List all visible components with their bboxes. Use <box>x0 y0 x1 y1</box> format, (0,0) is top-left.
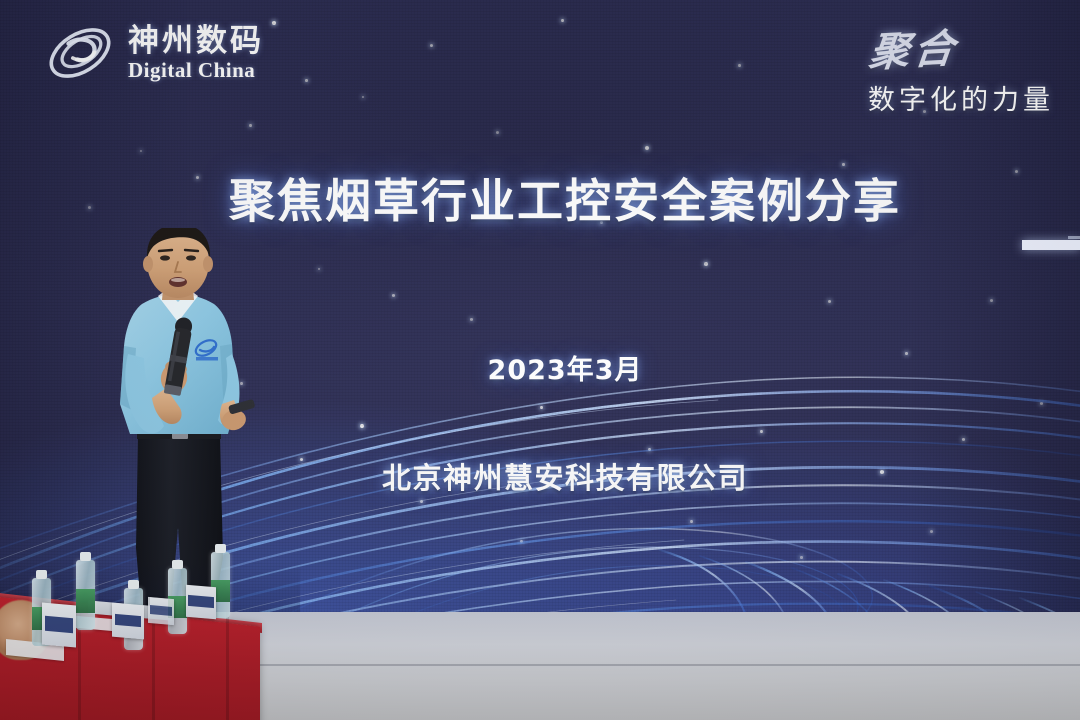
conference-stage-photo: 神州数码 Digital China 聚合 数字化的力量 聚焦烟草行业工控安全案… <box>0 0 1080 720</box>
slide-title: 聚焦烟草行业工控安全案例分享 <box>0 176 1080 228</box>
digital-china-wordmark: 神州数码 Digital China <box>128 26 264 81</box>
brand-name-cn: 神州数码 <box>128 26 264 57</box>
name-card <box>186 585 216 620</box>
water-bottle <box>76 560 95 630</box>
event-slogan: 聚合 数字化的力量 <box>868 18 1054 117</box>
speaker-presenter <box>92 228 282 620</box>
accent-bar <box>1022 240 1080 250</box>
slogan-brush-text: 聚合 <box>867 16 962 79</box>
brand-name-en: Digital China <box>128 60 264 81</box>
digital-china-swirl-logo <box>44 22 116 84</box>
slogan-subtitle: 数字化的力量 <box>868 78 1054 117</box>
accent-bar-small <box>1068 236 1080 239</box>
name-card <box>148 597 174 625</box>
name-card <box>112 603 144 640</box>
digital-china-logo: 神州数码 Digital China <box>44 22 264 84</box>
name-card <box>42 603 76 648</box>
